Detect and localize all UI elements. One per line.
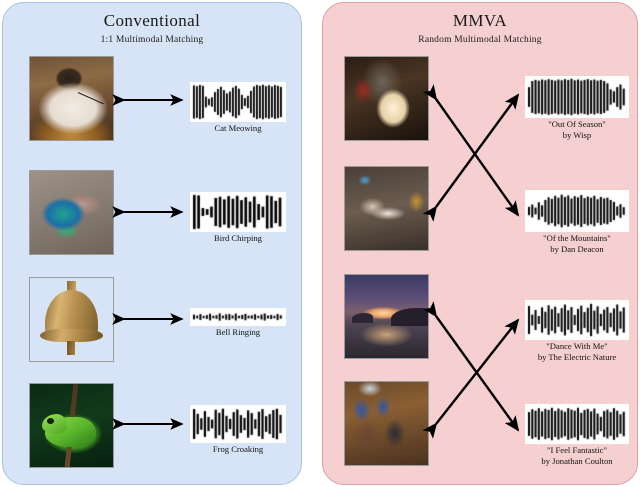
hummingbird-photo (29, 170, 114, 255)
waveform-label-frog: Frog Croaking (190, 444, 286, 455)
track-artist-3: by Jonathan Coulton (525, 456, 629, 467)
waveform-out-of-season (525, 76, 629, 118)
wedding-dance-photo (344, 56, 429, 141)
track-card-out-of-season: "Out Of Season" by Wisp (525, 76, 629, 141)
track-artist-0: by Wisp (525, 130, 629, 141)
track-title-3: "I Feel Fantastic" (525, 445, 629, 456)
conventional-title: Conventional (3, 11, 301, 31)
mmva-title: MMVA (323, 11, 637, 31)
waveform-label-bell: Bell Ringing (190, 327, 286, 338)
track-title-1: "Of the Mountains" (525, 233, 629, 244)
restaurant-photo (344, 166, 429, 251)
track-card-dance-with-me: "Dance With Me" by The Electric Nature (525, 300, 629, 363)
waveform-card-cat: Cat Meowing (190, 82, 286, 134)
waveform-label-bird: Bird Chirping (190, 233, 286, 244)
track-card-of-the-mountains: "Of the Mountains" by Dan Deacon (525, 190, 629, 255)
waveform-frog-croaking (190, 405, 286, 443)
cat-photo (29, 56, 114, 141)
waveform-card-bird: Bird Chirping (190, 192, 286, 244)
figure-root: Conventional 1:1 Multimodal Matching Cat… (0, 0, 640, 487)
waveform-cat-meowing (190, 82, 286, 122)
waveform-i-feel-fantastic (525, 404, 629, 444)
track-title-2: "Dance With Me" (525, 341, 629, 352)
frog-photo (29, 383, 114, 468)
waveform-card-bell: Bell Ringing (190, 308, 286, 338)
track-artist-1: by Dan Deacon (525, 244, 629, 255)
waveform-card-frog: Frog Croaking (190, 405, 286, 455)
waveform-dance-with-me (525, 300, 629, 340)
bar-crowd-photo (344, 381, 429, 466)
waveform-label-cat: Cat Meowing (190, 123, 286, 134)
conventional-subtitle: 1:1 Multimodal Matching (3, 35, 301, 45)
track-artist-2: by The Electric Nature (525, 352, 629, 363)
mmva-subtitle: Random Multimodal Matching (323, 35, 637, 45)
track-title-0: "Out Of Season" (525, 119, 629, 130)
waveform-bird-chirping (190, 192, 286, 232)
waveform-of-the-mountains (525, 190, 629, 232)
track-card-i-feel-fantastic: "I Feel Fantastic" by Jonathan Coulton (525, 404, 629, 467)
waveform-bell-ringing (190, 308, 286, 326)
beach-sunset-photo (344, 274, 429, 359)
bell-photo (29, 277, 114, 362)
